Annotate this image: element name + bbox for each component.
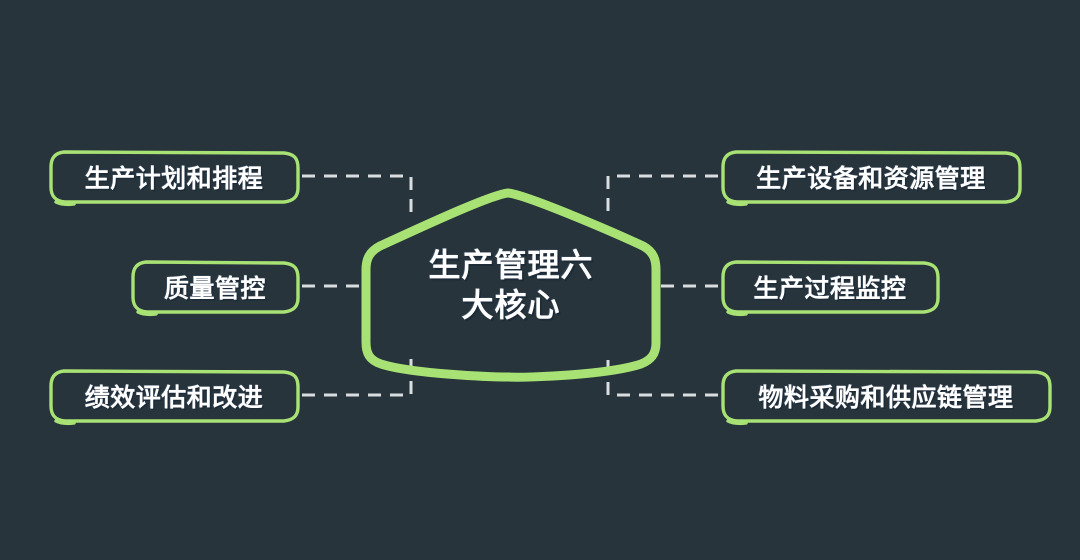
center-label-line-1: 生产管理六: [428, 245, 593, 285]
node-left-middle[interactable]: 质量管控: [128, 258, 302, 316]
node-left-bottom[interactable]: 绩效评估和改进: [46, 367, 302, 425]
center-label-line-2: 大核心: [461, 285, 560, 325]
node-left-top-label: 生产计划和排程: [85, 159, 264, 195]
center-hexagon-label: 生产管理六 大核心: [355, 186, 667, 384]
diagram-canvas: 生产管理六 大核心 生产计划和排程 质量管控 绩效评估和改进 生产设备和资源管理: [0, 0, 1080, 560]
node-right-bottom[interactable]: 物料采购和供应链管理: [718, 367, 1054, 425]
node-right-top-label: 生产设备和资源管理: [756, 159, 986, 195]
node-right-middle[interactable]: 生产过程监控: [718, 258, 942, 316]
node-left-bottom-label: 绩效评估和改进: [85, 378, 264, 414]
node-right-top[interactable]: 生产设备和资源管理: [718, 148, 1024, 206]
node-right-middle-label: 生产过程监控: [753, 269, 906, 305]
node-right-bottom-label: 物料采购和供应链管理: [758, 378, 1013, 414]
center-hexagon-node[interactable]: 生产管理六 大核心: [355, 186, 667, 384]
node-left-middle-label: 质量管控: [164, 269, 266, 305]
node-left-top[interactable]: 生产计划和排程: [46, 148, 302, 206]
